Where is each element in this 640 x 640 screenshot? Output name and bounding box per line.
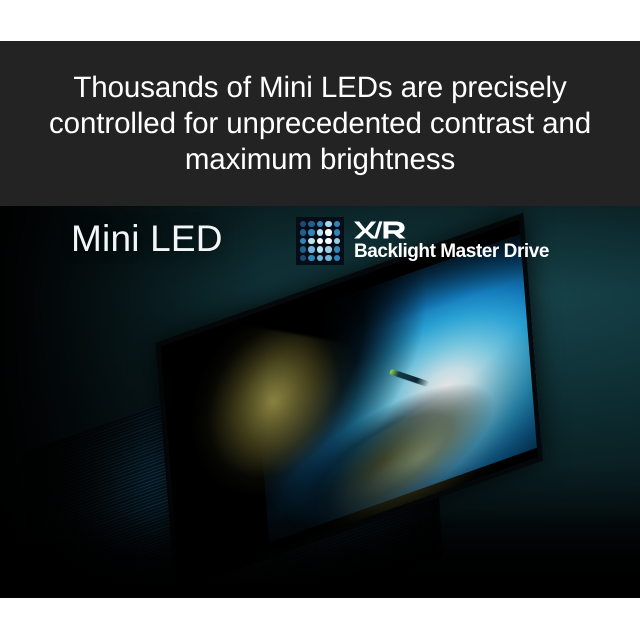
xr-dot-cell xyxy=(307,237,315,245)
xr-dot xyxy=(308,221,314,227)
xr-dot xyxy=(300,255,306,261)
xr-dot-cell xyxy=(299,245,307,253)
headline-banner: Thousands of Mini LEDs are precisely con… xyxy=(0,41,640,206)
xr-tagline: Backlight Master Drive xyxy=(354,241,549,262)
xr-dot xyxy=(300,229,306,235)
xr-dot xyxy=(325,221,331,227)
xr-dot xyxy=(308,238,314,244)
xr-dot xyxy=(317,229,323,235)
xr-dot-cell xyxy=(299,237,307,245)
xr-backlight-master-drive-badge: Backlight Master Drive xyxy=(296,216,549,266)
xr-dot xyxy=(334,221,340,227)
headline-text: Thousands of Mini LEDs are precisely con… xyxy=(6,70,634,178)
xr-dot-cell xyxy=(333,237,341,245)
xr-dot-cell xyxy=(307,245,315,253)
xr-dot xyxy=(334,246,340,252)
xr-dot xyxy=(334,229,340,235)
xr-dot-cell xyxy=(333,245,341,253)
ad-creative-root: Thousands of Mini LEDs are precisely con… xyxy=(0,0,640,640)
xr-dot xyxy=(325,255,331,261)
xr-word-block: Backlight Master Drive xyxy=(354,220,549,262)
xr-dot xyxy=(334,238,340,244)
xr-dot xyxy=(325,229,331,235)
xr-dot xyxy=(317,246,323,252)
xr-dot-cell xyxy=(333,220,341,228)
xr-dot xyxy=(308,246,314,252)
xr-dot xyxy=(317,238,323,244)
xr-dot-cell xyxy=(316,237,324,245)
xr-dot-grid-icon xyxy=(296,217,344,265)
xr-dot-cell xyxy=(316,254,324,262)
xr-dot xyxy=(300,238,306,244)
xr-dot-cell xyxy=(307,254,315,262)
xr-dot-cell xyxy=(324,220,332,228)
xr-dot-cell xyxy=(299,220,307,228)
xr-dot-cell xyxy=(333,228,341,236)
xr-dot xyxy=(325,238,331,244)
top-white-margin xyxy=(0,0,640,41)
xr-dot xyxy=(300,221,306,227)
xr-dot-cell xyxy=(316,228,324,236)
xr-dot-cell xyxy=(316,245,324,253)
xr-dot-cell xyxy=(299,254,307,262)
xr-dot-cell xyxy=(324,254,332,262)
xr-dot-cell xyxy=(299,228,307,236)
xr-dot-cell xyxy=(316,220,324,228)
xr-dot xyxy=(300,246,306,252)
xr-dot-cell xyxy=(324,237,332,245)
xr-dot xyxy=(317,221,323,227)
bottom-white-margin xyxy=(0,598,640,640)
xr-dot xyxy=(317,255,323,261)
xr-dot-cell xyxy=(307,220,315,228)
xr-dot-cell xyxy=(324,245,332,253)
xr-dot xyxy=(334,255,340,261)
xr-wordmark xyxy=(354,220,408,240)
xr-dot xyxy=(308,229,314,235)
xr-dot-cell xyxy=(333,254,341,262)
xr-dot xyxy=(325,246,331,252)
xr-dot-cell xyxy=(324,228,332,236)
xr-dot-cell xyxy=(307,228,315,236)
mini-led-label: Mini LED xyxy=(71,218,223,260)
xr-dot xyxy=(308,255,314,261)
